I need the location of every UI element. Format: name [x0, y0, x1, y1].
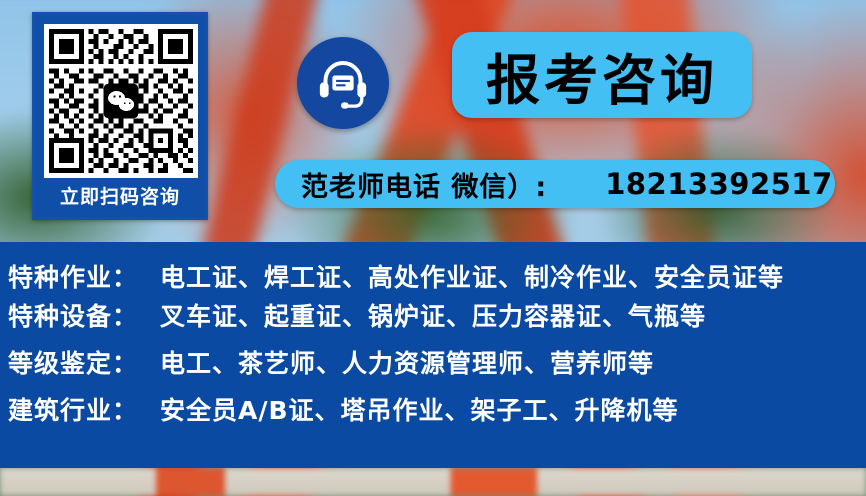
- qr-code-matrix: [49, 29, 193, 173]
- row-value: 叉车证、起重证、锅炉证、压力容器证、气瓶等: [160, 297, 706, 333]
- list-item: 建筑行业： 安全员A/B证、塔吊作业、架子工、升降机等: [0, 391, 866, 438]
- contact-phone-number: 18213392517: [605, 167, 832, 201]
- headset-support-icon[interactable]: [297, 37, 389, 129]
- row-value: 电工证、焊工证、高处作业证、制冷作业、安全员证等: [160, 258, 784, 294]
- promo-poster: 立即扫码咨询 报考咨询 范老师电话 微信）: 18213392517 特种作业：…: [0, 0, 866, 496]
- qr-code-image[interactable]: [44, 24, 198, 178]
- headset-glyph: [313, 53, 373, 113]
- row-value: 电工、茶艺师、人力资源管理师、营养师等: [160, 344, 654, 380]
- qr-code-card[interactable]: 立即扫码咨询: [32, 12, 208, 220]
- row-value: 安全员A/B证、塔吊作业、架子工、升降机等: [160, 391, 679, 427]
- certificate-list-panel: 特种作业： 电工证、焊工证、高处作业证、制冷作业、安全员证等 特种设备： 叉车证…: [0, 242, 866, 468]
- contact-label: 范老师电话 微信）:: [301, 165, 547, 204]
- title-badge: 报考咨询: [452, 32, 752, 118]
- row-key: 等级鉴定：: [8, 344, 138, 380]
- title-badge-label: 报考咨询: [486, 36, 718, 115]
- list-item: 等级鉴定： 电工、茶艺师、人力资源管理师、营养师等: [0, 344, 866, 391]
- qr-caption-label: 立即扫码咨询: [35, 183, 205, 213]
- contact-bar[interactable]: 范老师电话 微信）: 18213392517: [275, 160, 835, 208]
- list-item: 特种设备： 叉车证、起重证、锅炉证、压力容器证、气瓶等: [0, 297, 866, 344]
- row-key: 建筑行业：: [8, 391, 138, 427]
- background-photo-ground: [0, 468, 866, 496]
- row-key: 特种设备：: [8, 297, 138, 333]
- row-key: 特种作业：: [8, 258, 138, 294]
- list-item: 特种作业： 电工证、焊工证、高处作业证、制冷作业、安全员证等: [0, 242, 866, 297]
